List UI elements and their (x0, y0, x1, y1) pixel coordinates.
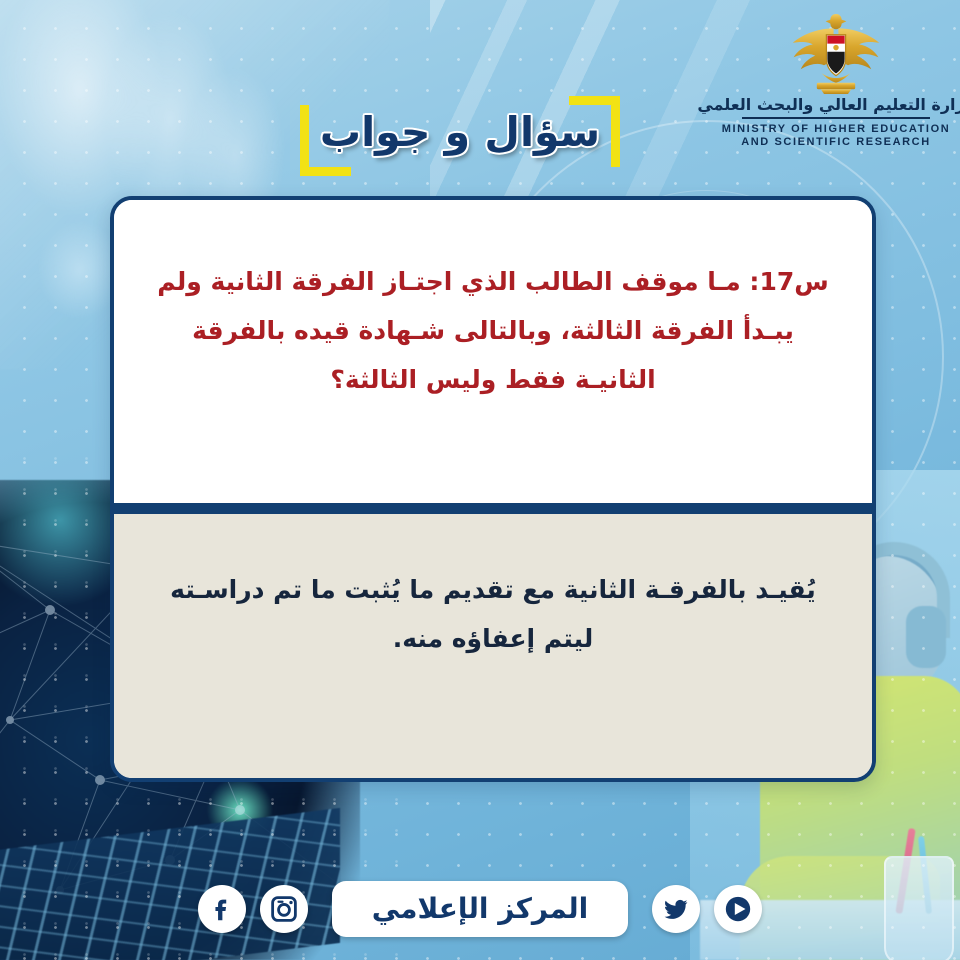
logo-divider (742, 117, 930, 119)
ministry-logo: وزارة التعليم العالي والبحث العلمي MINIS… (728, 12, 944, 164)
instagram-icon (270, 895, 298, 923)
page-title: سؤال و جواب (300, 96, 620, 176)
youtube-icon (723, 894, 753, 924)
twitter-icon (662, 895, 690, 923)
answer-section: يُقيـد بالفرقـة الثانية مع تقديم ما يُثب… (114, 514, 872, 778)
facebook-icon (207, 894, 237, 924)
ministry-name-english-line1: MINISTRY OF HIGHER EDUCATION (722, 123, 951, 137)
media-center-label: المركز الإعلامي (372, 890, 588, 928)
ministry-name-english-line2: AND SCIENTIFIC RESEARCH (722, 136, 951, 150)
youtube-button[interactable] (714, 885, 762, 933)
media-center-badge[interactable]: المركز الإعلامي (332, 881, 628, 937)
card-divider (114, 503, 872, 514)
infographic-canvas: وزارة التعليم العالي والبحث العلمي MINIS… (0, 0, 960, 960)
instagram-button[interactable] (260, 885, 308, 933)
ministry-name-arabic: وزارة التعليم العالي والبحث العلمي (697, 97, 960, 113)
facebook-button[interactable] (198, 885, 246, 933)
twitter-button[interactable] (652, 885, 700, 933)
answer-text: يُقيـد بالفرقـة الثانية مع تقديم ما يُثب… (154, 566, 832, 664)
eagle-of-saladin-icon (788, 12, 884, 96)
qa-card: س17: مـا موقف الطالب الذي اجتـاز الفرقة … (110, 196, 876, 782)
footer: المركز الإعلامي (0, 874, 960, 944)
headphone-earcup (906, 606, 946, 668)
header: وزارة التعليم العالي والبحث العلمي MINIS… (0, 0, 960, 196)
page-title-text: سؤال و جواب (300, 102, 620, 164)
ministry-name-english: MINISTRY OF HIGHER EDUCATION AND SCIENTI… (722, 123, 951, 151)
question-text: س17: مـا موقف الطالب الذي اجتـاز الفرقة … (148, 258, 838, 404)
question-section: س17: مـا موقف الطالب الذي اجتـاز الفرقة … (114, 200, 872, 503)
